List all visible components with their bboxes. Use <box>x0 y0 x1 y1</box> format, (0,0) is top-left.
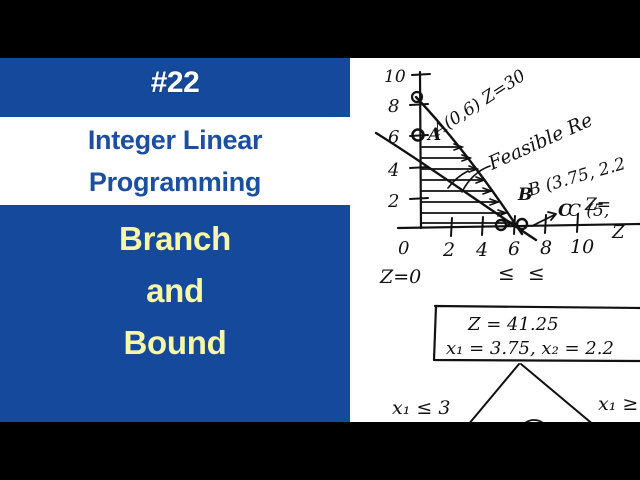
course-title-line-2: Programming <box>0 161 350 203</box>
vertex-marker-c <box>517 219 527 229</box>
annotation-point-a: A(0,6) Z=30 <box>428 66 529 142</box>
x-tick-label-8: 8 <box>540 237 552 259</box>
y-tick-label-4: 4 <box>387 160 399 181</box>
x-tick-label-2: 2 <box>442 239 455 261</box>
branch-and-bound-tree: Z = 41.25 x₁ = 3.75, x₂ = 2.2 2 x₁ ≤ 3 x… <box>350 306 640 422</box>
y-tick-label-10: 10 <box>384 67 406 87</box>
topic-title-line-3: Bound <box>0 317 350 369</box>
tree-root-z: Z = 41.25 <box>467 314 559 335</box>
vertex-marker-b <box>496 220 506 230</box>
tree-edge-left <box>468 364 519 422</box>
letterbox-bar-bottom <box>0 422 640 480</box>
topic-title-line-1: Branch <box>0 213 350 265</box>
y-tick-4 <box>410 167 428 168</box>
y-tick-10 <box>412 74 430 75</box>
title-panel: #22 Integer Linear Programming Branch an… <box>0 58 350 422</box>
topic-title-line-2: and <box>0 265 350 317</box>
slide-content: #22 Integer Linear Programming Branch an… <box>0 58 640 422</box>
y-tick-2 <box>410 198 428 199</box>
course-title: Integer Linear Programming <box>0 119 350 203</box>
video-frame: #22 Integer Linear Programming Branch an… <box>0 0 640 480</box>
x-tick-2 <box>451 218 452 236</box>
annotation-point-c-z: Z <box>611 222 625 243</box>
tree-root-vars: x₁ = 3.75, x₂ = 2.2 <box>446 338 614 359</box>
topic-title: Branch and Bound <box>0 213 350 369</box>
y-tick-label-8: 8 <box>388 96 399 117</box>
annotation-z-equals-zero: Z=0 <box>379 266 421 288</box>
episode-number: #22 <box>0 66 350 100</box>
tree-branch-label-right: x₁ ≥ <box>598 393 638 415</box>
course-title-line-1: Integer Linear <box>0 119 350 161</box>
tree-edge-right <box>521 364 595 422</box>
x-tick-4 <box>482 217 483 235</box>
y-tick-8 <box>410 104 428 105</box>
x-tick-label-10: 10 <box>570 236 594 258</box>
x-tick-label-0: 0 <box>398 238 409 259</box>
tree-branch-label-left: x₁ ≤ 3 <box>392 397 450 419</box>
vertex-c-arrow <box>532 212 556 226</box>
x-tick-label-4: 4 <box>475 239 488 261</box>
handwritten-notes-panel: 10 8 6 4 2 0 2 4 6 8 <box>350 58 640 422</box>
x-tick-label-6: 6 <box>508 238 520 260</box>
x-tick-8 <box>545 215 546 233</box>
annotation-point-b: B (3.75, 2.2 <box>525 154 628 201</box>
annotation-point-c: C (5, <box>568 201 609 221</box>
y-tick-label-2: 2 <box>387 191 399 212</box>
annotation-feasible-region: Feasible Re <box>484 109 596 175</box>
annotation-constraint-le-2: ≤ <box>528 261 545 285</box>
letterbox-bar-top <box>0 0 640 58</box>
lp-graph: 10 8 6 4 2 0 2 4 6 8 <box>376 66 640 288</box>
annotation-constraint-le-1: ≤ <box>498 261 515 285</box>
